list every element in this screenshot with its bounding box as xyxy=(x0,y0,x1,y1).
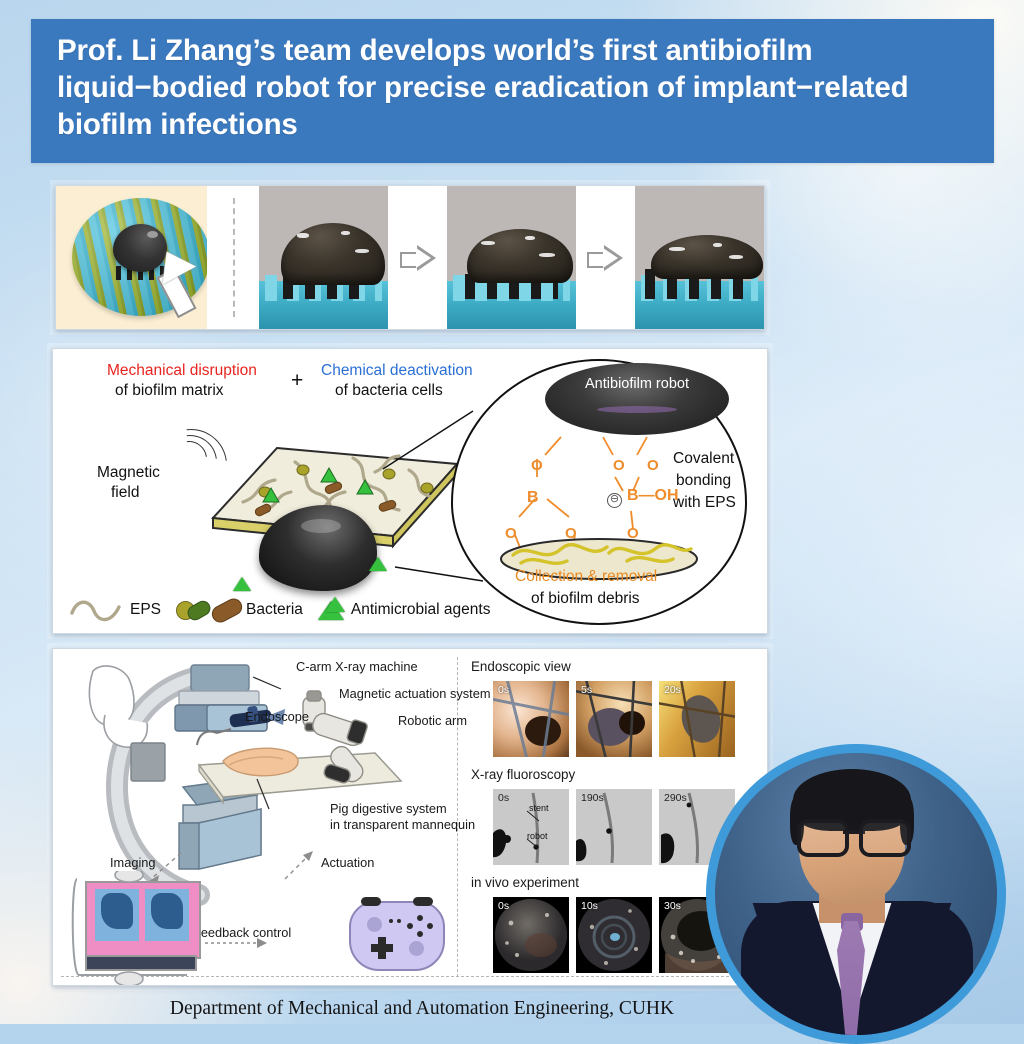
chem-negative-charge: ⊖ xyxy=(607,493,622,508)
legend-label-antimicrobial: Antimicrobial agents xyxy=(351,601,491,619)
chem-atom-O: O xyxy=(531,457,543,474)
chem-atom-B: B xyxy=(527,489,539,507)
green-triangle-icon xyxy=(325,597,345,612)
thumbnail-row-xray: 0s stent robot 190s xyxy=(493,789,735,865)
sem-frame-1 xyxy=(259,186,388,329)
portrait-photo xyxy=(715,753,997,1035)
headline-banner: Prof. Li Zhang’s team develops world’s f… xyxy=(31,19,994,163)
figure-disc-overview xyxy=(56,186,207,329)
legend-label-eps: EPS xyxy=(130,601,161,619)
panel-experimental-setup: C-arm X-ray machine Magnetic actuation s… xyxy=(52,648,768,986)
label-biofilm-debris: of biofilm debris xyxy=(531,589,640,608)
chem-atom-O: O xyxy=(505,525,517,542)
thumbnail-xray-190s[interactable]: 190s xyxy=(576,789,652,865)
row-title-xray-fluoroscopy: X-ray fluoroscopy xyxy=(471,767,575,782)
white-pointer-arrow-icon xyxy=(152,250,198,312)
chem-atom-O: O xyxy=(647,457,659,474)
label-bonding: bonding xyxy=(676,471,731,490)
label-with-eps: with EPS xyxy=(673,493,736,512)
thumb-timestamp: 0s xyxy=(498,684,509,696)
thumbnail-row-invivo: 0s 10s xyxy=(493,897,735,973)
prof-li-zhang-portrait xyxy=(706,744,1024,1044)
gamepad-controller-icon xyxy=(349,901,445,971)
section-divider xyxy=(207,186,259,329)
thumb-timestamp: 0s xyxy=(498,900,509,912)
svg-text:robot: robot xyxy=(527,831,548,841)
thumb-timestamp: 20s xyxy=(664,684,681,696)
thumb-timestamp: 190s xyxy=(581,792,604,804)
legend-row: EPS Bacteria Antimicrobial agents xyxy=(69,595,490,625)
sem-frame-3 xyxy=(635,186,764,329)
chem-atom-O: O xyxy=(565,525,577,542)
thumb-timestamp: 0s xyxy=(498,792,509,804)
eyeglasses-icon xyxy=(795,819,913,849)
label-covalent: Covalent xyxy=(673,449,734,468)
page-title: Prof. Li Zhang’s team develops world’s f… xyxy=(57,32,968,143)
chem-atom-O: O xyxy=(627,525,639,542)
thumb-timestamp: 10s xyxy=(581,900,598,912)
green-triangle-icon xyxy=(233,577,251,591)
sequence-arrow-2 xyxy=(576,186,635,329)
panel-mechanism-diagram: Mechanical disruption of biofilm matrix … xyxy=(52,348,768,634)
sequence-arrow-1 xyxy=(388,186,447,329)
sem-frame-2 xyxy=(447,186,576,329)
imaging-monitor-icon xyxy=(79,877,203,979)
thumb-timestamp: 5s xyxy=(581,684,592,696)
label-collection-removal: Collection & removal xyxy=(515,567,657,586)
legend-label-bacteria: Bacteria xyxy=(246,601,303,619)
green-triangle-icon xyxy=(369,557,387,571)
row-title-in-vivo: in vivo experiment xyxy=(471,875,579,890)
svg-text:stent: stent xyxy=(529,803,549,813)
eps-squiggle-icon xyxy=(69,597,123,623)
panel-droplet-sequence xyxy=(55,185,765,330)
thumb-timestamp: 290s xyxy=(664,792,687,804)
chem-atom-O: O xyxy=(613,457,625,474)
bacteria-icon xyxy=(176,601,243,620)
thumbnail-endoscopic-5s[interactable]: 5s xyxy=(576,681,652,757)
thumbnail-invivo-0s[interactable]: 0s xyxy=(493,897,569,973)
row-title-endoscopic-view: Endoscopic view xyxy=(471,659,571,674)
thumbnail-endoscopic-0s[interactable]: 0s xyxy=(493,681,569,757)
thumbnail-invivo-10s[interactable]: 10s xyxy=(576,897,652,973)
thumbnail-row-endoscopic: 0s 5s 20s xyxy=(493,681,735,757)
thumbnail-xray-0s[interactable]: 0s stent robot xyxy=(493,789,569,865)
thumb-timestamp: 30s xyxy=(664,900,681,912)
chem-group-B-OH: B—OH xyxy=(627,487,679,505)
